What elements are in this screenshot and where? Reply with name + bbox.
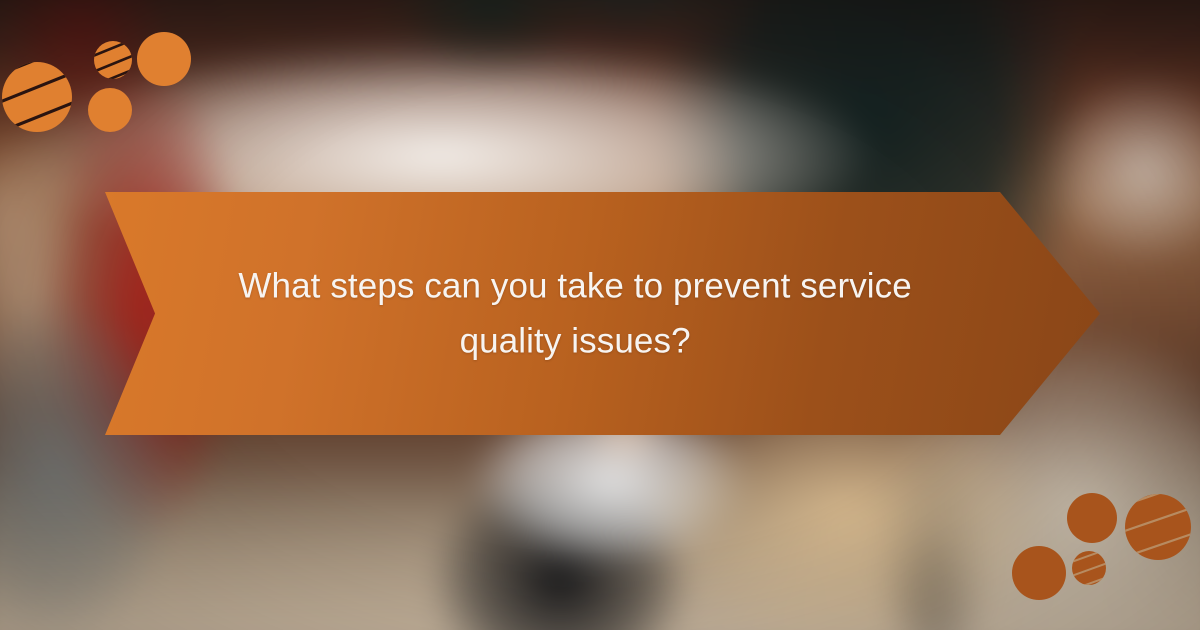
banner-canvas: What steps can you take to prevent servi… (0, 0, 1200, 630)
headline-text: What steps can you take to prevent servi… (190, 258, 961, 369)
headline-ribbon: What steps can you take to prevent servi… (105, 192, 1100, 435)
